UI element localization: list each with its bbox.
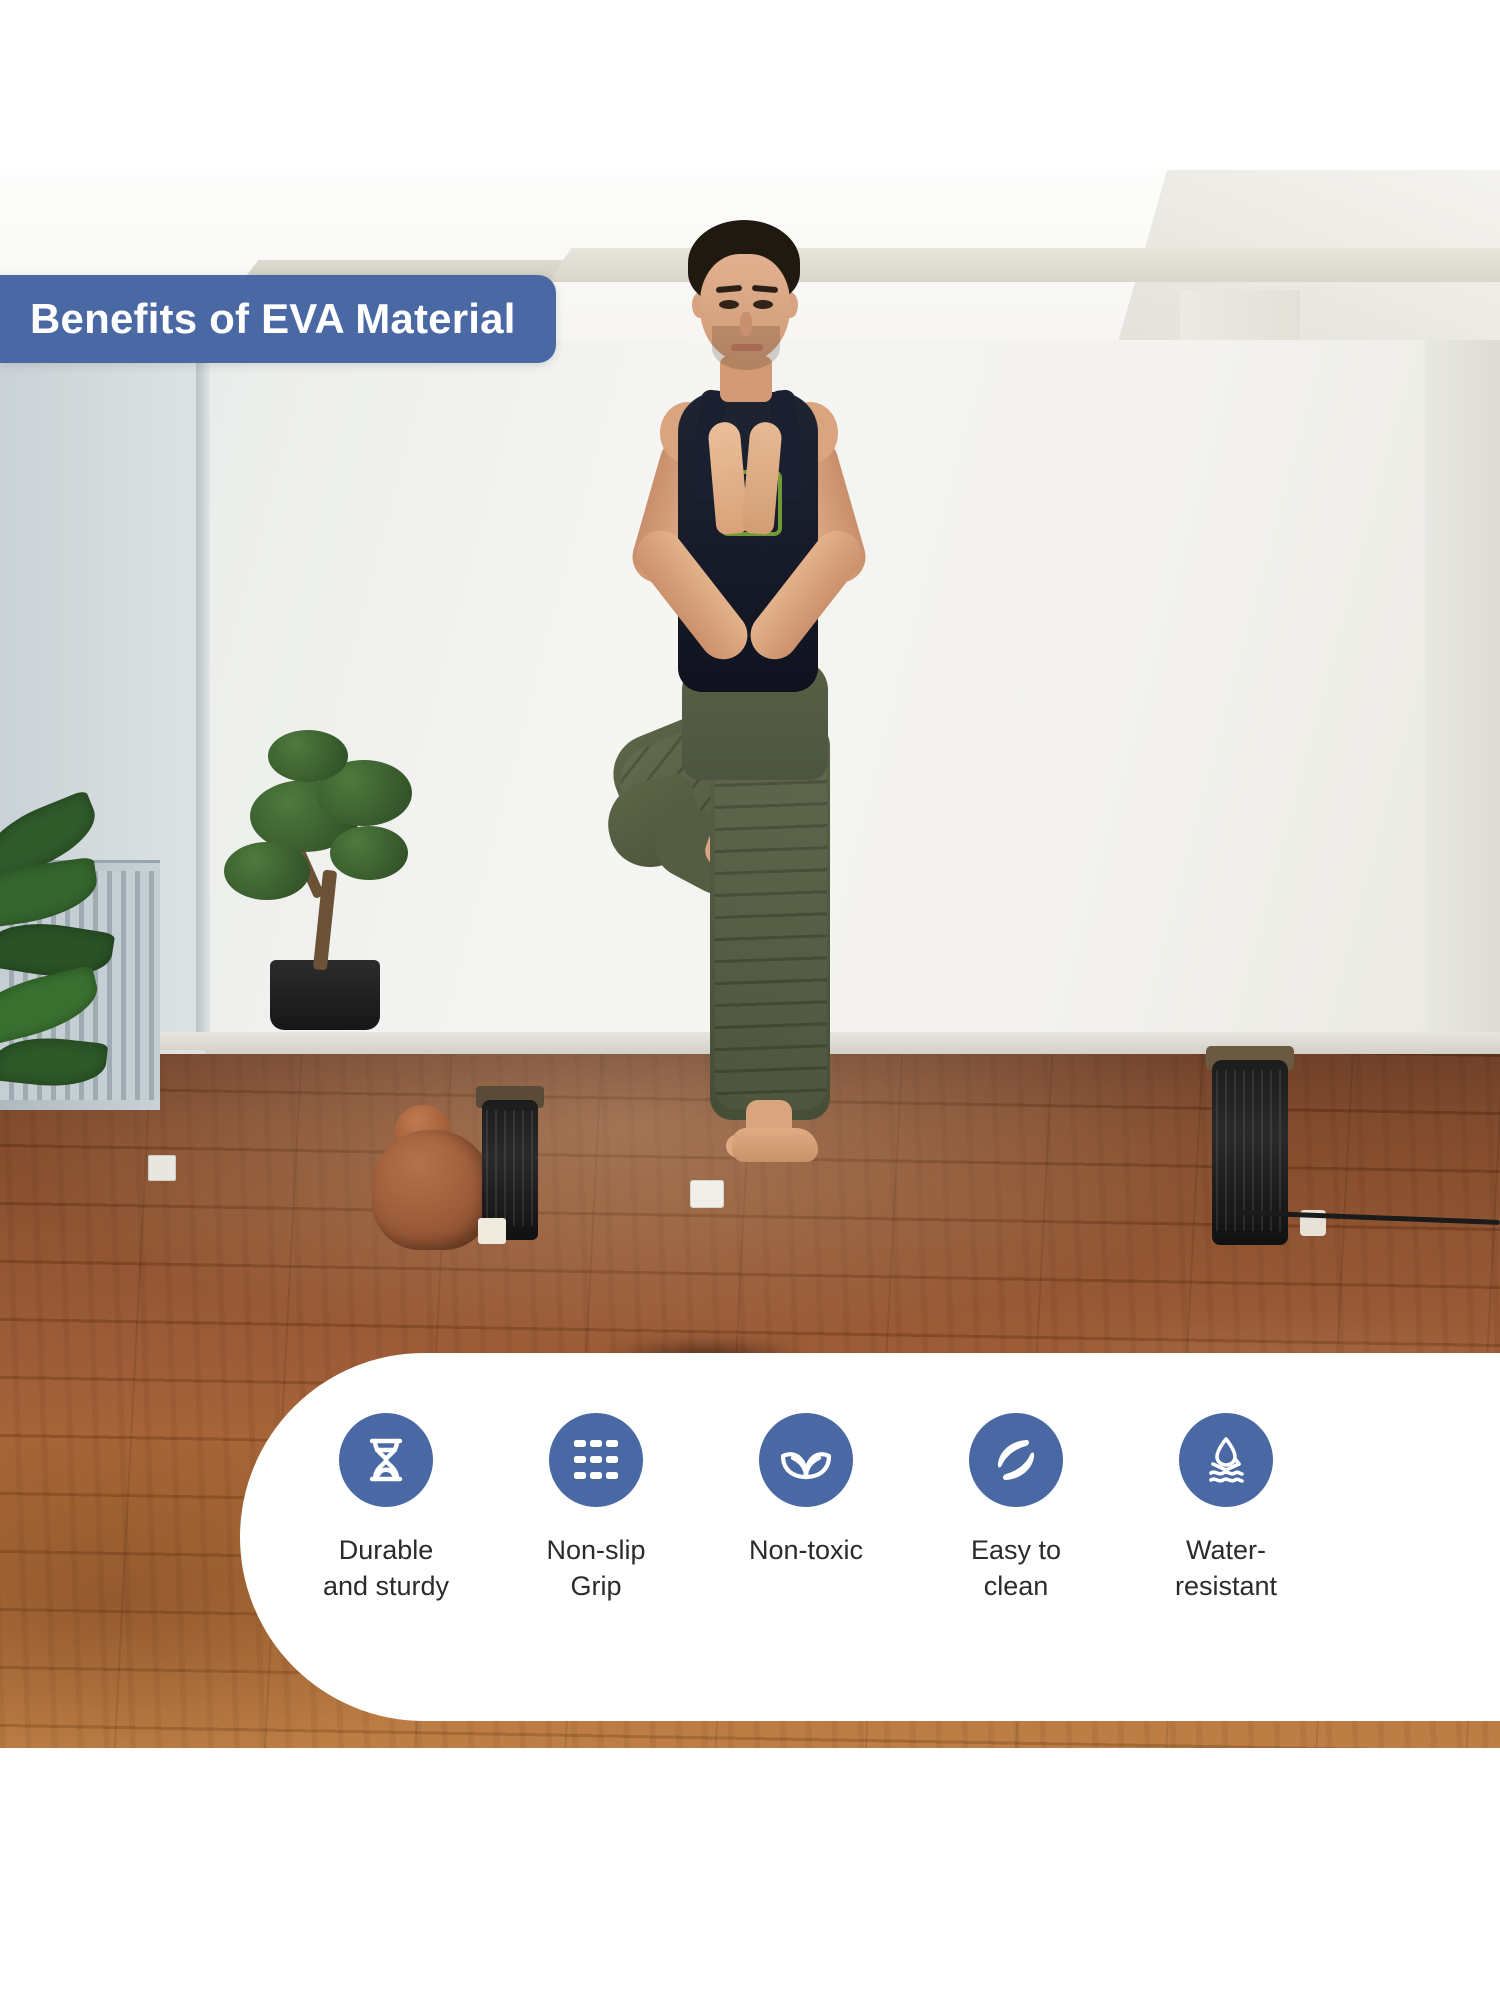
nose: [740, 312, 752, 336]
bonsai-pot: [270, 960, 380, 1030]
product-infographic: Benefits of EVA Material Durable and stu…: [0, 0, 1500, 2000]
bonsai-foliage-e: [268, 730, 348, 782]
benefit-label: Durable and sturdy: [323, 1533, 449, 1604]
benefits-card: Durable and sturdy: [240, 1353, 1500, 1721]
leaves-icon: [759, 1413, 853, 1507]
grid-dots-icon: [549, 1413, 643, 1507]
left-eye: [719, 300, 739, 309]
benefit-item-durable[interactable]: Durable and sturdy: [300, 1413, 472, 1604]
feather-icon: [969, 1413, 1063, 1507]
right-eye: [753, 300, 773, 309]
right-foot: [732, 1128, 818, 1162]
bonsai-foliage-d: [330, 826, 408, 880]
benefit-label: Easy to clean: [971, 1533, 1061, 1604]
benefit-item-water-resistant[interactable]: Water- resistant: [1140, 1413, 1312, 1604]
wall-switch: [148, 1155, 176, 1181]
small-object-left: [478, 1218, 506, 1244]
bonsai-foliage-c: [224, 842, 310, 900]
right-leg-folds: [715, 740, 827, 1110]
vase-left-ribs: [486, 1110, 534, 1226]
benefit-label: Water- resistant: [1175, 1533, 1277, 1604]
vase-right-ribs: [1216, 1070, 1284, 1231]
hourglass-icon: [339, 1413, 433, 1507]
water-drop-icon: [1179, 1413, 1273, 1507]
benefit-item-non-slip[interactable]: Non-slip Grip: [510, 1413, 682, 1604]
benefit-label: Non-toxic: [749, 1533, 863, 1569]
person-in-tree-pose: [560, 220, 910, 1380]
vase-right: [1212, 1060, 1288, 1245]
page-title: Benefits of EVA Material: [30, 295, 516, 343]
benefit-label: Non-slip Grip: [546, 1533, 645, 1604]
title-banner: Benefits of EVA Material: [0, 275, 556, 363]
benefit-item-non-toxic[interactable]: Non-toxic: [720, 1413, 892, 1569]
floor-plant: [0, 770, 200, 1130]
mouth: [731, 344, 763, 351]
benefit-item-easy-to-clean[interactable]: Easy to clean: [930, 1413, 1102, 1604]
buddha-statue: [372, 1130, 492, 1250]
right-wall-edge: [1425, 340, 1500, 1040]
benefits-list: Durable and sturdy: [300, 1413, 1312, 1604]
